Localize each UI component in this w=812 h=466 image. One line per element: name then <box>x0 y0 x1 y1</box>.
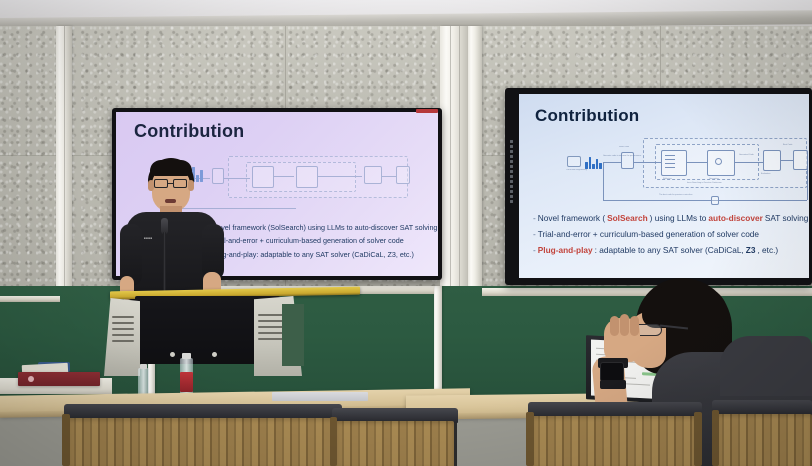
bullet-item: - Trial-and-error + curriculum-based gen… <box>533 230 809 240</box>
audience-finger <box>630 316 639 336</box>
chair-frame <box>694 412 702 466</box>
pillar-groove <box>459 26 460 316</box>
chair-front-right[interactable] <box>524 402 704 466</box>
shirt-logo: ■■■■ <box>144 236 152 240</box>
podium-vent <box>112 322 134 324</box>
bullet-seg-highlight: auto-discover <box>708 214 762 224</box>
red-box-marking <box>28 376 34 382</box>
presenter-ear <box>188 180 194 191</box>
slide-diagram-left <box>168 154 418 216</box>
right-display-screen: Contribution Curriculum Engineering Seed… <box>519 94 809 278</box>
bullet-item: Novel framework (SolSearch) using LLMs t… <box>212 224 438 232</box>
bullet-seg: ) using LLMs to <box>650 214 707 224</box>
slide-title-right: Contribution <box>535 106 639 126</box>
bezel-button[interactable] <box>510 150 513 153</box>
bar <box>585 162 588 169</box>
water-bottle-label <box>180 372 193 392</box>
chair-backrest <box>68 418 338 466</box>
bullet-item: Trial-and-error + curriculum-based gener… <box>212 237 438 245</box>
bar <box>592 164 595 169</box>
chalkboard-rail <box>0 296 60 302</box>
bullet-item: - Novel framework (SolSearch) using LLMs… <box>533 214 809 224</box>
people-icon <box>567 156 581 167</box>
bullet-seg-highlight: SolSearch <box>607 214 648 224</box>
bezel-button[interactable] <box>510 155 513 158</box>
diagram-label-evaluation: Evaluation <box>761 173 770 175</box>
bezel-button[interactable] <box>510 160 513 163</box>
podium-knob[interactable] <box>212 352 217 357</box>
slide-title-left: Contribution <box>134 121 244 142</box>
pillar-groove <box>64 26 65 288</box>
diagram-caption-band: Inner Searching in Function Continuum <box>687 182 722 184</box>
podium-vent <box>112 340 134 342</box>
bezel-button[interactable] <box>510 175 513 178</box>
bullet-item: - Plug-and-play: adaptable to any SAT so… <box>533 246 809 256</box>
chair-backrest <box>336 421 454 466</box>
water-bottle-cap <box>182 353 191 359</box>
bezel-button[interactable] <box>510 170 513 173</box>
audience-shoulder <box>720 336 812 396</box>
lecture-hall-scene: Contribution <box>0 0 812 466</box>
bullet-text: Trial-and-error + curriculum-based gener… <box>212 237 404 245</box>
display-sticker <box>416 109 438 113</box>
bezel-button[interactable] <box>510 200 513 203</box>
bullet-text: Plug-and-play: adaptable to any SAT solv… <box>212 251 414 259</box>
slide-bullets-left: Novel framework (SolSearch) using LLMs t… <box>212 224 438 259</box>
chair-backrest <box>716 414 812 466</box>
diagram-box-evaluation <box>763 150 781 171</box>
microphone-stem <box>163 232 166 294</box>
bullet-seg: , etc.) <box>757 246 778 256</box>
glasses-bridge <box>168 183 173 184</box>
wall-pillar-center <box>440 26 468 316</box>
bullet-dash: - <box>533 230 536 240</box>
bezel-button[interactable] <box>510 185 513 188</box>
diagram-label-best-code: Best Code <box>783 144 792 146</box>
bezel-button[interactable] <box>510 145 513 148</box>
smartwatch-face[interactable] <box>600 362 624 382</box>
diagram-caption-left: Curriculum Engineering <box>566 169 587 171</box>
bullet-dash: - <box>533 214 536 224</box>
diagram-caption-input: Generate code to improve the performance <box>603 155 641 157</box>
podium-side-panel <box>282 304 304 366</box>
bullet-item: Plug-and-play: adaptable to any SAT solv… <box>212 251 438 259</box>
diagram-caption-bottom: The best code for previous curriculum <box>659 194 692 196</box>
chair-frame <box>330 417 337 466</box>
bullet-seg-bold: Z3 <box>746 246 756 256</box>
podium-vent <box>112 316 134 318</box>
diagram-box-best-code <box>793 150 808 170</box>
laptop-closed <box>272 392 368 401</box>
diagram-label-generation: Generation <box>709 178 719 180</box>
chair-frame <box>62 414 70 466</box>
bezel-button[interactable] <box>510 190 513 193</box>
bullet-dash: - <box>533 246 536 256</box>
display-bezel-buttons[interactable] <box>510 140 513 203</box>
audience-fringe <box>642 286 728 328</box>
glasses-left-lens <box>154 179 168 188</box>
podium-vent <box>112 328 134 330</box>
bar <box>596 159 599 169</box>
audience-finger <box>610 316 619 336</box>
slide-bullets-right: - Novel framework (SolSearch) using LLMs… <box>533 214 809 255</box>
diagram-label-reflection: Reflection <box>663 178 672 180</box>
podium-vent <box>112 334 134 336</box>
presenter-mouth <box>165 199 176 203</box>
chair-backrest <box>532 416 698 466</box>
bullet-seg-highlight: Plug-and-play <box>538 246 593 256</box>
bullet-text: Novel framework (SolSearch) using LLMs t… <box>212 224 438 232</box>
podium-knob[interactable] <box>170 352 175 357</box>
bullet-seg: : adaptable to any SAT solver (CaDiCaL, <box>595 246 744 256</box>
wall-pillar-center-b <box>468 26 482 316</box>
pillar-groove <box>450 26 451 316</box>
smartwatch-band <box>600 380 626 389</box>
slide-diagram-right: Curriculum Engineering Seed Code Reflect… <box>567 138 807 208</box>
bullet-seg: SAT solving strategies <box>765 214 809 224</box>
glasses-right-lens <box>173 179 187 188</box>
chair-front-left[interactable] <box>58 404 348 466</box>
diagram-box-loop <box>711 196 719 205</box>
right-display[interactable]: Contribution Curriculum Engineering Seed… <box>505 88 812 285</box>
gear-icon <box>715 158 722 165</box>
clear-bottle-cap <box>140 364 147 369</box>
bezel-button[interactable] <box>510 140 513 143</box>
chair-frame <box>712 410 719 466</box>
bar <box>599 163 602 169</box>
bezel-button[interactable] <box>510 195 513 198</box>
audience-finger <box>620 314 629 336</box>
bar <box>589 157 592 169</box>
presenter-fringe <box>150 160 192 176</box>
chair-front-center[interactable] <box>330 408 460 466</box>
chair-frame <box>526 412 534 466</box>
bezel-button[interactable] <box>510 180 513 183</box>
diagram-label-seed: Seed Code <box>619 146 629 148</box>
chair-front-far-right[interactable] <box>712 400 812 466</box>
bullet-seg: Novel framework ( <box>538 214 605 224</box>
bullet-seg: Trial-and-error + curriculum-based gener… <box>538 230 759 240</box>
bezel-button[interactable] <box>510 165 513 168</box>
